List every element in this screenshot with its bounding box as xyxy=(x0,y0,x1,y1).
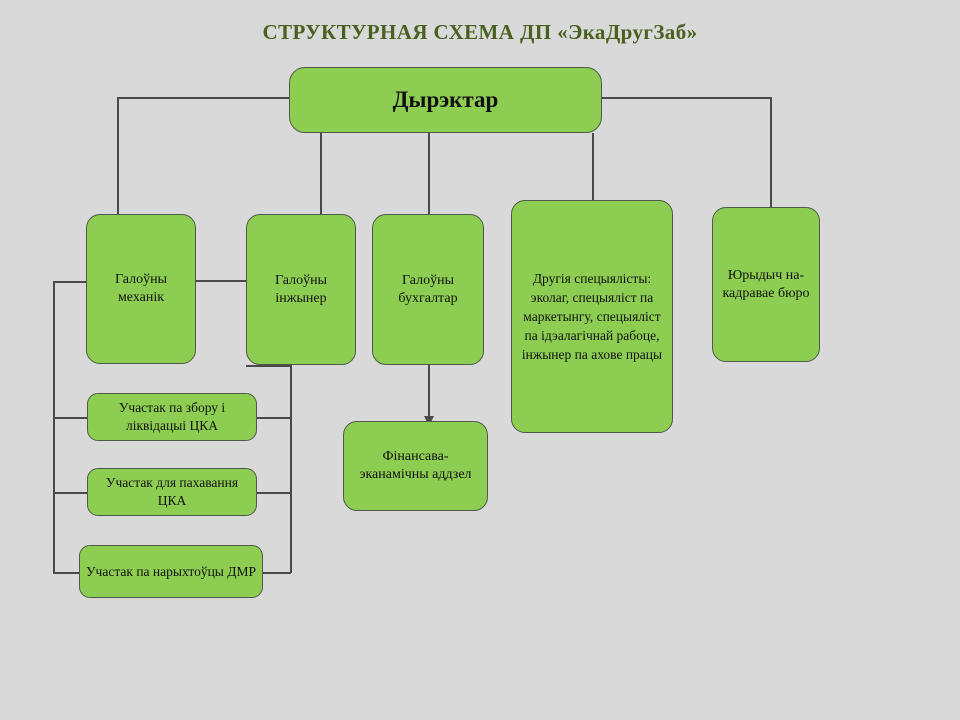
connector-root-to-chief-accountant xyxy=(428,133,430,214)
node-director[interactable]: Дырэктар xyxy=(289,67,602,133)
node-legal-hr-bureau[interactable]: Юрыдыч на- кадравае бюро xyxy=(712,207,820,362)
connector-engineer-bottom-stub xyxy=(246,365,292,367)
node-chief-engineer[interactable]: Галоўны інжынер xyxy=(246,214,356,365)
connector-root-left-horizontal xyxy=(118,97,294,99)
connector-engineer-bus-to-sector-collection xyxy=(257,417,291,419)
connector-engineer-bus xyxy=(290,365,292,573)
node-chief-accountant[interactable]: Галоўны бухгалтар xyxy=(372,214,484,365)
node-sector-dmr[interactable]: Участак па нарыхтоўцы ДМР xyxy=(79,545,263,598)
connector-root-to-other-specialists xyxy=(592,133,594,200)
connector-root-to-chief-engineer xyxy=(320,133,322,214)
node-sector-burial-cka[interactable]: Участак для пахавання ЦКА xyxy=(87,468,257,516)
connector-left-bus-to-sector-collection xyxy=(53,417,87,419)
connector-root-to-legal-bureau xyxy=(770,97,772,207)
connector-engineer-bus-to-sector-burial xyxy=(257,492,291,494)
connector-accountant-to-finance xyxy=(428,365,430,421)
node-other-specialists[interactable]: Другія спецыялісты: эколаг, спецыяліст п… xyxy=(511,200,673,433)
connector-mechanic-to-engineer xyxy=(196,280,246,282)
connector-left-bus-to-sector-burial xyxy=(53,492,87,494)
connector-left-bus-to-chief-mechanic xyxy=(53,281,87,283)
node-finance-department[interactable]: Фінансава-эканамічны аддзел xyxy=(343,421,488,511)
node-sector-collection-cka[interactable]: Участак па збору і ліквідацыі ЦКА xyxy=(87,393,257,441)
connector-left-bus xyxy=(53,281,55,573)
connector-root-to-chief-mechanic xyxy=(117,97,119,214)
connector-root-right-horizontal xyxy=(602,97,772,99)
page-title: СТРУКТУРНАЯ СХЕМА ДП «ЭкаДругЗаб» xyxy=(0,20,960,45)
node-chief-mechanic[interactable]: Галоўны механік xyxy=(86,214,196,364)
org-chart-canvas: СТРУКТУРНАЯ СХЕМА ДП «ЭкаДругЗаб» Дырэкт… xyxy=(0,0,960,720)
